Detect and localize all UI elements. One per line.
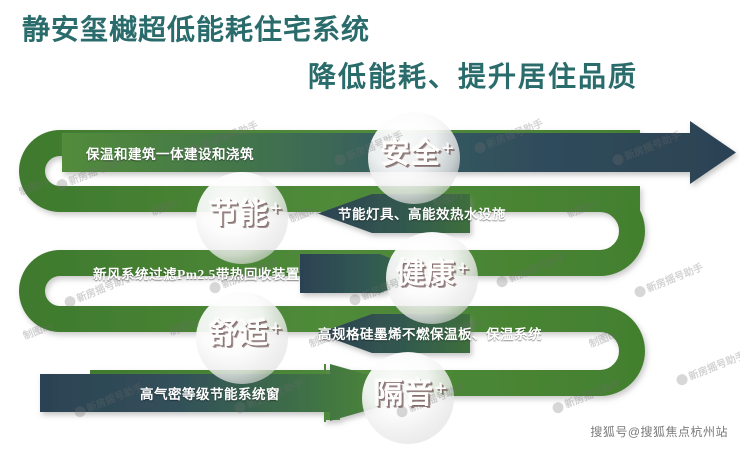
row-description-4: 高规格硅墨烯不燃保温板、保温系统	[318, 323, 542, 343]
keyword-text-2: 节能	[209, 198, 269, 230]
row-keyword-3: 健康+	[396, 250, 470, 292]
keyword-plus-3: +	[457, 256, 470, 280]
page-title: 静安玺樾超低能耗住宅系统	[22, 8, 370, 48]
row-description-1: 保温和建筑一体建设和浇筑	[86, 143, 254, 163]
left-edge-strip	[0, 0, 6, 450]
row-description-3: 新风系统过滤Pm2.5带热回收装置	[93, 263, 300, 283]
row-description-2: 节能灯具、高能效热水设施	[338, 203, 506, 223]
keyword-text-5: 隔音	[374, 378, 434, 410]
keyword-plus-4: +	[270, 316, 283, 340]
keyword-text-1: 安全	[381, 138, 441, 170]
source-credit: 搜狐号@搜狐焦点杭州站	[590, 423, 728, 440]
row-keyword-2: 节能+	[209, 190, 283, 232]
keyword-plus-1: +	[442, 136, 455, 160]
row-keyword-1: 安全+	[381, 130, 455, 172]
keyword-plus-2: +	[270, 196, 283, 220]
slide-canvas: 制图by新房摇号助手新房摇号助手制图by新房摇号助手制图by新房摇号助手制图by…	[0, 0, 740, 450]
keyword-plus-5: +	[435, 376, 448, 400]
page-subtitle: 降低能耗、提升居住品质	[308, 55, 638, 95]
row-keyword-4: 舒适+	[209, 310, 283, 352]
row-keyword-5: 隔音+	[374, 370, 448, 412]
keyword-text-3: 健康	[396, 258, 456, 290]
keyword-text-4: 舒适	[209, 318, 269, 350]
row-description-5: 高气密等级节能系统窗	[140, 383, 280, 403]
